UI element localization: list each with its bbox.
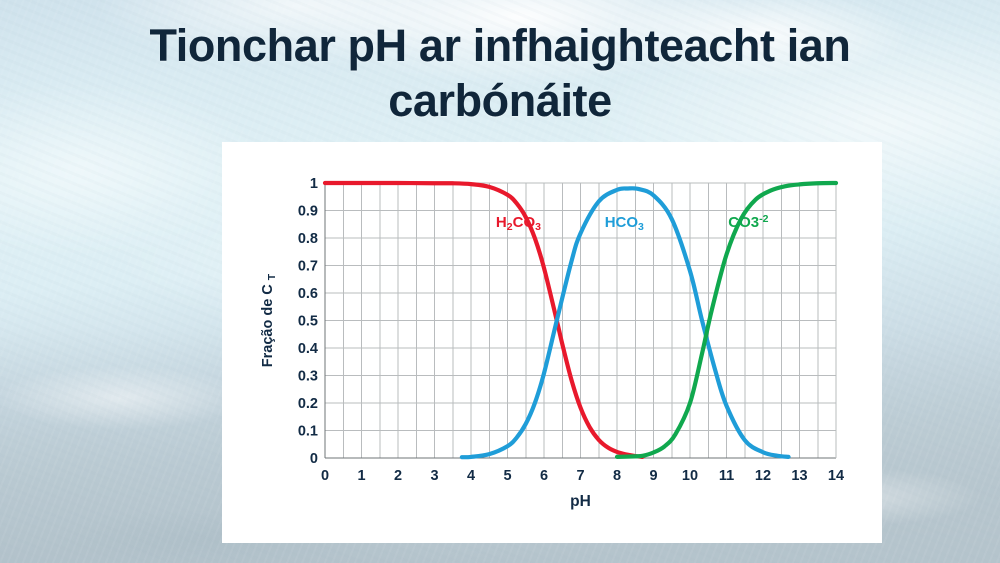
x-tick-label: 5 bbox=[503, 468, 511, 484]
y-tick-label: 1 bbox=[310, 176, 318, 192]
y-tick-label: 0.7 bbox=[298, 259, 318, 275]
series-line-h2co3 bbox=[325, 183, 643, 457]
x-tick-label: 7 bbox=[576, 468, 584, 484]
speciation-chart: 10.90.80.70.60.50.40.30.20.1001234567891… bbox=[222, 142, 882, 543]
y-tick-label: 0.8 bbox=[298, 231, 318, 247]
x-tick-label: 3 bbox=[430, 468, 438, 484]
x-tick-label: 6 bbox=[540, 468, 548, 484]
x-tick-label: 13 bbox=[791, 468, 807, 484]
x-tick-label: 1 bbox=[357, 468, 365, 484]
chart-series-labels: H2CO3HCO3CO3-2 bbox=[496, 213, 769, 233]
y-tick-label: 0.6 bbox=[298, 286, 318, 302]
y-tick-label: 0 bbox=[310, 451, 318, 467]
x-tick-label: 10 bbox=[682, 468, 698, 484]
slide: Tionchar pH ar infhaighteacht ian carbón… bbox=[0, 0, 1000, 563]
slide-title: Tionchar pH ar infhaighteacht ian carbón… bbox=[60, 18, 940, 129]
x-tick-label: 12 bbox=[755, 468, 771, 484]
y-tick-label: 0.1 bbox=[298, 424, 318, 440]
y-axis-title: Fração de C T bbox=[260, 273, 278, 367]
chart-area: 10.90.80.70.60.50.40.30.20.1001234567891… bbox=[222, 142, 882, 543]
y-tick-label: 0.5 bbox=[298, 314, 318, 330]
x-tick-label: 2 bbox=[394, 468, 402, 484]
x-tick-label: 11 bbox=[719, 468, 734, 484]
y-tick-label: 0.2 bbox=[298, 396, 318, 412]
x-tick-label: 0 bbox=[321, 468, 329, 484]
series-label-h2co3: H2CO3 bbox=[496, 214, 541, 233]
x-tick-label: 9 bbox=[649, 468, 657, 484]
x-tick-label: 14 bbox=[828, 468, 844, 484]
y-tick-label: 0.9 bbox=[298, 204, 318, 220]
series-label-hco3: HCO3 bbox=[605, 214, 644, 233]
y-tick-label: 0.4 bbox=[298, 341, 318, 357]
x-tick-label: 8 bbox=[613, 468, 621, 484]
chart-card: 10.90.80.70.60.50.40.30.20.1001234567891… bbox=[222, 142, 882, 543]
x-axis-title: pH bbox=[570, 493, 591, 510]
y-tick-label: 0.3 bbox=[298, 369, 318, 385]
x-tick-label: 4 bbox=[467, 468, 475, 484]
